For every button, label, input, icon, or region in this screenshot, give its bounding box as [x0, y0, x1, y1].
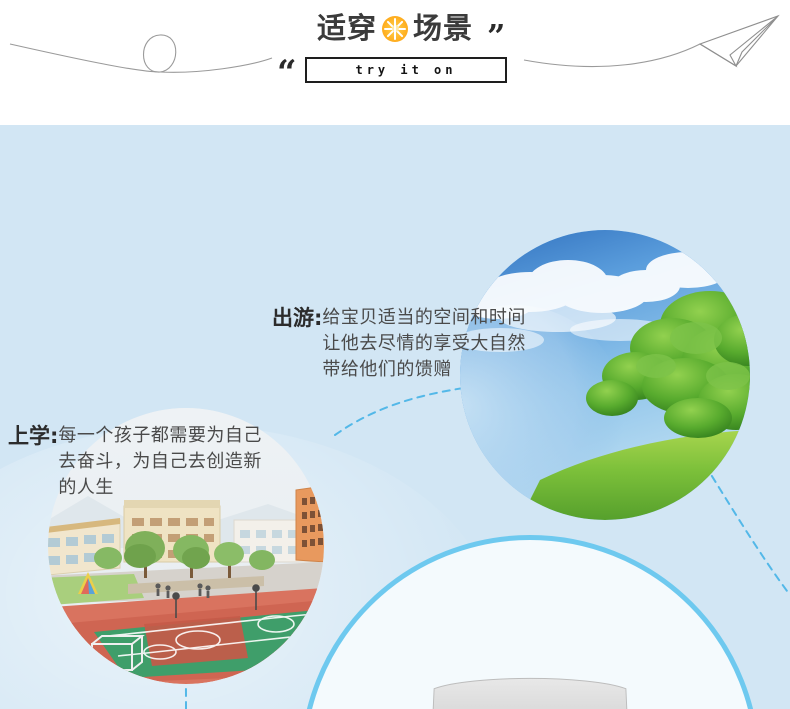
- travel-text-block: 出游: 给宝贝适当的空间和时间 让他去尽情的享受大自然 带给他们的馈赠: [272, 305, 526, 383]
- school-line-2: 去奋斗，为自己去创造新: [58, 449, 262, 475]
- quote-mark-right: ”: [487, 20, 505, 52]
- travel-line-2: 让他去尽情的享受大自然: [322, 331, 526, 357]
- scene-panel: 出游: 给宝贝适当的空间和时间 让他去尽情的享受大自然 带给他们的馈赠 上学: …: [0, 125, 790, 709]
- try-it-on-label: try it on: [355, 63, 456, 77]
- quote-mark-left: “: [277, 56, 297, 90]
- school-text-block: 上学: 每一个孩子都需要为自己 去奋斗，为自己去创造新 的人生: [8, 423, 262, 501]
- travel-label: 出游:: [272, 305, 322, 331]
- page-root: 适穿 场景 ” “ try it on: [0, 0, 790, 709]
- title-suffix: 场景: [413, 14, 473, 43]
- try-it-on-badge: try it on: [305, 57, 507, 83]
- travel-line-3: 带给他们的馈赠: [322, 357, 526, 383]
- school-line-1: 每一个孩子都需要为自己: [58, 423, 262, 449]
- title-prefix: 适穿: [317, 14, 377, 43]
- school-label: 上学:: [8, 423, 58, 449]
- school-line-3: 的人生: [58, 475, 262, 501]
- header-banner: 适穿 场景 ” “ try it on: [0, 0, 790, 125]
- travel-line-1: 给宝贝适当的空间和时间: [322, 305, 526, 331]
- header-title: 适穿 场景: [0, 14, 790, 43]
- orange-slice-icon: [382, 16, 408, 42]
